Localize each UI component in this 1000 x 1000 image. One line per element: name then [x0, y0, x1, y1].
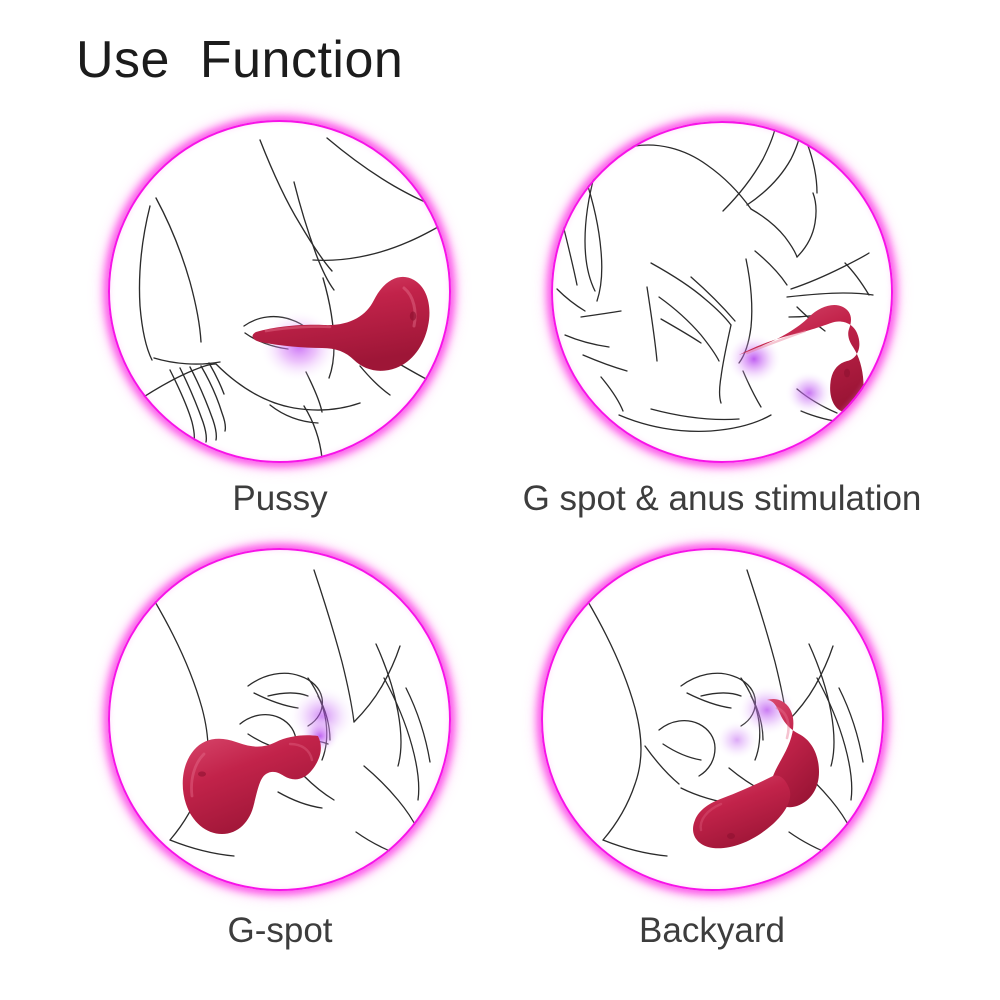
page-title: Use Function	[76, 34, 403, 86]
illustration-backyard-position	[541, 548, 884, 891]
infographic-page: Use Function	[0, 0, 1000, 1000]
illustration-pussy-position	[108, 120, 451, 463]
caption-gspot: G-spot	[130, 913, 430, 948]
illustration-gspot-position	[108, 548, 451, 891]
illustration-circle-pussy	[108, 120, 451, 463]
caption-gspot-anus: G spot & anus stimulation	[492, 481, 952, 516]
illustration-circle-backyard	[541, 548, 884, 891]
caption-pussy: Pussy	[130, 481, 430, 516]
illustration-circle-gspot-anus	[551, 121, 893, 463]
illustration-gspot-anus-position	[551, 121, 893, 463]
illustration-circle-gspot	[108, 548, 451, 891]
caption-backyard: Backyard	[562, 913, 862, 948]
